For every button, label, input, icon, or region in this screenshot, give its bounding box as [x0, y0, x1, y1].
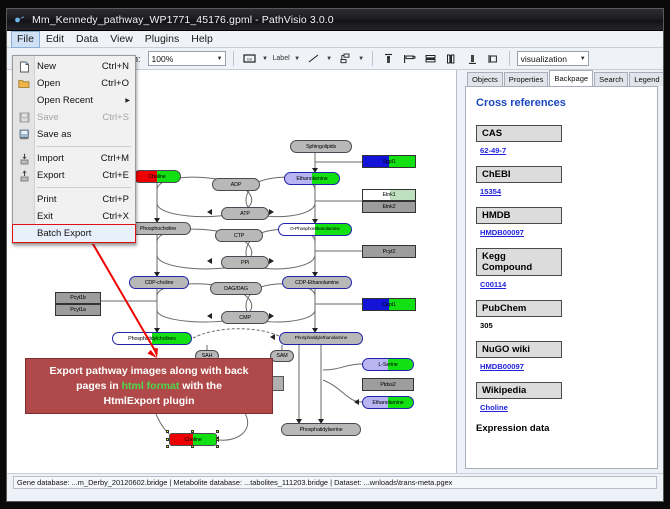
selection-handle-sw[interactable] — [166, 445, 169, 448]
xref-header-hmdb: HMDB — [476, 207, 562, 224]
selection-handle-w[interactable] — [166, 438, 169, 441]
annotation-highlight: html format — [122, 380, 180, 392]
selection-handle-n[interactable] — [191, 430, 194, 433]
menu-item-open-recent-label: Open Recent — [37, 95, 125, 106]
cross-references-title: Cross references — [476, 97, 649, 109]
menu-item-open[interactable]: Open Ctrl+O — [13, 75, 135, 92]
node-etnk2[interactable]: Etnk2 — [362, 201, 416, 213]
visualization-combo[interactable]: visualization ▼ — [517, 51, 589, 66]
node-cdp-ethanolamine[interactable]: CDP-Ethanolamine — [282, 276, 352, 289]
status-text-container: Gene database: ...m_Derby_20120602.bridg… — [13, 476, 657, 489]
node-choline[interactable]: Choline — [133, 170, 181, 183]
menu-file[interactable]: File — [11, 31, 40, 48]
node-ctp[interactable]: CTP — [215, 229, 263, 242]
backpage-content: Cross references CAS 62-49-7 ChEBI 15354… — [465, 86, 658, 469]
interaction-tool-button[interactable] — [337, 50, 354, 67]
xref-value-nugo[interactable]: HMDB00097 — [480, 362, 649, 371]
open-folder-icon — [17, 77, 31, 91]
node-dag[interactable]: DAG/DAG — [210, 282, 262, 295]
menu-bar[interactable]: File Edit Data View Plugins Help — [7, 31, 663, 48]
outer-frame: Mm_Kennedy_pathway_WP1771_45176.gpml - P… — [0, 0, 670, 509]
node-pcyt1b[interactable]: Pcyt1b — [55, 292, 101, 304]
import-icon — [17, 152, 31, 166]
window-title: Mm_Kennedy_pathway_WP1771_45176.gpml - P… — [32, 14, 334, 26]
menu-item-export[interactable]: Export Ctrl+E — [13, 167, 135, 184]
xref-value-wikipedia[interactable]: Choline — [480, 403, 649, 412]
file-menu-dropdown[interactable]: New Ctrl+N Open Ctrl+O Open Recent ▶ Sav… — [12, 55, 136, 244]
status-bar: Gene database: ...m_Derby_20120602.bridg… — [7, 473, 663, 491]
interaction-dropdown-icon[interactable]: ▼ — [358, 56, 365, 62]
xref-header-nugo: NuGO wiki — [476, 341, 562, 358]
xref-header-cas: CAS — [476, 125, 562, 142]
side-panel-tabs[interactable]: Objects Properties Backpage Search Legen… — [457, 70, 662, 86]
node-cdp-choline[interactable]: CDP-choline — [129, 276, 189, 289]
node-ethanolamine[interactable]: Ethanolamine — [284, 172, 340, 185]
menu-item-batch-export[interactable]: Batch Export — [13, 225, 135, 242]
annotation-line2-a: pages in — [76, 380, 122, 392]
tab-legend[interactable]: Legend — [629, 72, 664, 86]
node-adp[interactable]: ADP — [212, 178, 260, 191]
annotation-line2-b: with the — [179, 380, 222, 392]
xref-header-pubchem: PubChem — [476, 300, 562, 317]
chevron-down-icon-2: ▼ — [580, 56, 586, 62]
menu-item-print[interactable]: Print Ctrl+P — [13, 191, 135, 208]
menu-item-new[interactable]: New Ctrl+N — [13, 58, 135, 75]
node-sphingolipids[interactable]: Sphingolipids — [290, 140, 352, 153]
node-ethanolamine-2[interactable]: Ethanolamine — [362, 396, 414, 409]
selection-handle-nw[interactable] — [166, 430, 169, 433]
menu-item-save: Save Ctrl+S — [13, 109, 135, 126]
xref-value-chebi[interactable]: 15354 — [480, 187, 649, 196]
xref-value-cas[interactable]: 62-49-7 — [480, 146, 649, 155]
node-pcyt2[interactable]: Pcyt2 — [362, 245, 416, 258]
selection-handle-se[interactable] — [216, 445, 219, 448]
menu-item-import-shortcut: Ctrl+M — [101, 153, 135, 164]
submenu-arrow-icon: ▶ — [125, 97, 135, 104]
datanode-dropdown-icon[interactable]: ▼ — [262, 56, 269, 62]
xref-header-chebi: ChEBI — [476, 166, 562, 183]
xref-header-kegg: Kegg Compound — [476, 248, 562, 276]
menu-item-exit-label: Exit — [37, 211, 102, 222]
node-sgpl1[interactable]: Sgpl1 — [362, 155, 416, 168]
title-bar: Mm_Kennedy_pathway_WP1771_45176.gpml - P… — [7, 9, 663, 31]
menu-item-open-label: Open — [37, 78, 101, 89]
expression-data-label: Expression data — [476, 423, 649, 434]
menu-item-exit[interactable]: Exit Ctrl+X — [13, 208, 135, 225]
tab-properties[interactable]: Properties — [504, 72, 549, 86]
file-menu-separator-1 — [37, 146, 131, 147]
annotation-line3: HtmlExport plugin — [104, 395, 195, 407]
new-file-icon — [17, 60, 31, 74]
node-atp[interactable]: ATP — [221, 207, 269, 220]
xref-value-hmdb[interactable]: HMDB00097 — [480, 228, 649, 237]
status-text: Gene database: ...m_Derby_20120602.bridg… — [17, 478, 452, 487]
menu-item-print-shortcut: Ctrl+P — [102, 194, 135, 205]
menu-item-new-shortcut: Ctrl+N — [102, 61, 135, 72]
xref-value-kegg[interactable]: C00114 — [480, 280, 649, 289]
annotation-line1: Export pathway images along with back — [50, 365, 249, 377]
toolbar-separator-1 — [233, 51, 234, 66]
menu-item-exit-shortcut: Ctrl+X — [102, 211, 135, 222]
menu-item-save-label: Save — [37, 112, 102, 123]
tab-search[interactable]: Search — [594, 72, 628, 86]
node-o-phosphoethanolamine[interactable]: O-Phosphoethanolamine — [278, 223, 352, 236]
menu-help[interactable]: Help — [185, 31, 219, 48]
xref-value-pubchem: 305 — [480, 321, 649, 330]
menu-item-batch-export-label: Batch Export — [37, 228, 135, 239]
menu-item-save-as[interactable]: Save as — [13, 126, 135, 143]
align-top-icon[interactable] — [380, 50, 397, 67]
menu-edit[interactable]: Edit — [40, 31, 70, 48]
node-l-serine[interactable]: L-Serine — [362, 358, 414, 371]
zoom-value: 100% — [152, 54, 174, 64]
menu-item-import[interactable]: Import Ctrl+M — [13, 150, 135, 167]
selection-handle-s[interactable] — [191, 445, 194, 448]
node-etnk1[interactable]: Etnk1 — [362, 189, 416, 201]
align-bottom-icon[interactable] — [464, 50, 481, 67]
menu-data[interactable]: Data — [70, 31, 104, 48]
menu-item-save-shortcut: Ctrl+S — [102, 112, 135, 123]
node-ptdss2[interactable]: Ptdss2 — [362, 378, 414, 391]
callout-anchor — [272, 376, 284, 391]
tab-backpage[interactable]: Backpage — [549, 70, 593, 86]
menu-item-save-as-label: Save as — [37, 129, 129, 140]
svg-text:Gn: Gn — [246, 57, 251, 62]
annotation-text: Export pathway images along with back pa… — [50, 364, 249, 409]
tab-objects[interactable]: Objects — [467, 72, 503, 86]
toolbar-separator-2 — [372, 51, 373, 66]
label-tool-button[interactable]: Label — [273, 55, 290, 62]
save-disk-icon — [17, 111, 31, 125]
line-dropdown-icon[interactable]: ▼ — [326, 56, 333, 62]
menu-item-open-shortcut: Ctrl+O — [101, 78, 135, 89]
side-panel: Objects Properties Backpage Search Legen… — [457, 70, 662, 473]
menu-item-export-label: Export — [37, 170, 102, 181]
menu-item-export-shortcut: Ctrl+E — [102, 170, 135, 181]
align-left-icon[interactable] — [401, 50, 418, 67]
align-center-v-icon[interactable] — [443, 50, 460, 67]
node-phosphatidylethanolamine[interactable]: Phosphatidylethanolamine — [279, 332, 363, 345]
node-pcyt1a[interactable]: Pcyt1a — [55, 304, 101, 316]
visualization-value: visualization — [521, 54, 567, 64]
chevron-down-icon: ▼ — [217, 56, 223, 62]
zoom-combo[interactable]: 100% ▼ — [148, 51, 226, 66]
xref-header-wikipedia: Wikipedia — [476, 382, 562, 399]
save-as-icon — [17, 128, 31, 142]
datanode-tool-button[interactable]: Gn — [241, 50, 258, 67]
node-cept1[interactable]: Cept1 — [362, 298, 416, 311]
selection-handle-ne[interactable] — [216, 430, 219, 433]
node-cmp[interactable]: CMP — [221, 311, 269, 324]
menu-item-open-recent[interactable]: Open Recent ▶ — [13, 92, 135, 109]
toolbar-separator-3 — [509, 51, 510, 66]
menu-item-new-label: New — [37, 61, 102, 72]
selection-handle-e[interactable] — [216, 438, 219, 441]
menu-view[interactable]: View — [104, 31, 139, 48]
annotation-callout: Export pathway images along with back pa… — [25, 358, 273, 414]
export-icon — [17, 169, 31, 183]
file-menu-separator-2 — [37, 187, 131, 188]
node-phosphatidylcholines[interactable]: Phosphatidylcholines — [112, 332, 192, 345]
node-ppi[interactable]: PPi — [221, 256, 269, 269]
label-dropdown-icon[interactable]: ▼ — [294, 56, 301, 62]
pathvisio-icon — [13, 13, 26, 26]
align-center-h-icon[interactable] — [422, 50, 439, 67]
align-right-icon[interactable] — [485, 50, 502, 67]
menu-plugins[interactable]: Plugins — [139, 31, 185, 48]
node-sam[interactable]: SAM — [270, 350, 294, 362]
application-window: Mm_Kennedy_pathway_WP1771_45176.gpml - P… — [6, 8, 664, 502]
line-tool-button[interactable] — [305, 50, 322, 67]
menu-item-import-label: Import — [37, 153, 101, 164]
menu-item-print-label: Print — [37, 194, 102, 205]
node-phosphatidylserine[interactable]: Phosphatidylserine — [281, 423, 361, 436]
